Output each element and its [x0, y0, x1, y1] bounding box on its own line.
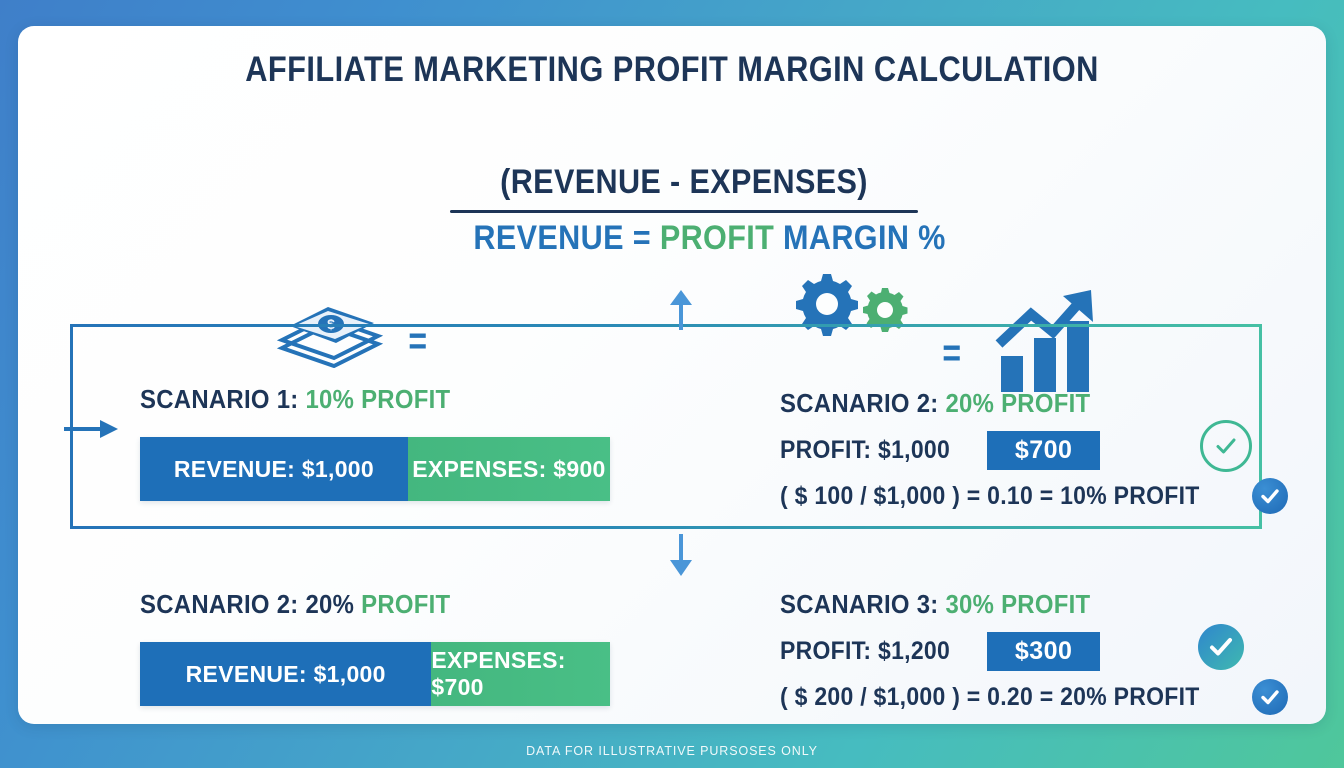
page-title: AFFILIATE MARKETING PROFIT MARGIN CALCUL… [96, 50, 1247, 90]
denominator-profit: PROFIT [660, 219, 774, 257]
calculation-text: ( $ 200 / $1,000 ) = 0.20 = 20% PROFIT [780, 683, 1200, 712]
scenario-heading: SCANARIO 3: 30% PROFIT [780, 589, 1247, 620]
fraction-bar [450, 210, 918, 213]
content-card: AFFILIATE MARKETING PROFIT MARGIN CALCUL… [18, 26, 1326, 724]
bar-segment-expenses: EXPENSES: $700 [431, 642, 610, 706]
scenario-heading-prefix: SCANARIO 3: [780, 589, 945, 619]
check-circle-outline-icon [1200, 420, 1252, 472]
calculation-line: ( $ 100 / $1,000 ) = 0.10 = 10% PROFIT [780, 478, 1288, 514]
bar-segment-revenue: REVENUE: $1,000 [140, 642, 431, 706]
denominator-margin: MARGIN % [774, 219, 946, 257]
scenario-block-left-1: SCANARIO 1: 10% PROFIT REVENUE: $1,000 E… [140, 384, 610, 501]
scenario-heading-percent: 20% [305, 589, 361, 619]
arrow-down-icon [666, 534, 696, 581]
profit-label: PROFIT: $1,000 [780, 436, 950, 465]
arrow-up-icon [666, 290, 696, 335]
scenario-heading: SCANARIO 2: 20% PROFIT [780, 388, 1247, 419]
scenario-heading-highlight: PROFIT [361, 589, 450, 619]
scenario-heading-prefix: SCANARIO 2: [780, 388, 945, 418]
infographic-poster: AFFILIATE MARKETING PROFIT MARGIN CALCUL… [0, 0, 1344, 768]
scenario-heading: SCANARIO 2: 20% PROFIT [140, 589, 572, 620]
profit-chip[interactable]: $300 [987, 632, 1101, 671]
scenario-bar: REVENUE: $1,000 EXPENSES: $700 [140, 642, 610, 706]
profit-chip[interactable]: $700 [987, 431, 1101, 470]
scenario-heading-highlight: 30% PROFIT [945, 589, 1090, 619]
bar-segment-revenue: REVENUE: $1,000 [140, 437, 408, 501]
formula-fraction: (REVENUE - EXPENSES) REVENUE = PROFIT MA… [450, 163, 918, 258]
profit-label: PROFIT: $1,200 [780, 637, 950, 666]
check-circle-filled-icon [1198, 624, 1244, 670]
footer-disclaimer: DATA FOR ILLUSTRATIVE PURSOSES ONLY [0, 744, 1344, 758]
scenario-heading-prefix: SCANARIO 1: [140, 384, 305, 414]
check-circle-icon [1252, 478, 1288, 514]
scenario-block-left-2: SCANARIO 2: 20% PROFIT REVENUE: $1,000 E… [140, 589, 610, 706]
formula-row: $ = (REVENUE - EXPENSES) REVENUE = PROFI… [18, 146, 1326, 296]
scenario-heading-highlight: 10% PROFIT [305, 384, 450, 414]
scenario-heading-prefix: SCANARIO 2: [140, 589, 305, 619]
arrow-into-box-icon [64, 418, 120, 445]
calculation-text: ( $ 100 / $1,000 ) = 0.10 = 10% PROFIT [780, 482, 1200, 511]
formula-numerator: (REVENUE - EXPENSES) [473, 163, 894, 202]
check-circle-icon [1252, 679, 1288, 715]
scenario-bar: REVENUE: $1,000 EXPENSES: $900 [140, 437, 610, 501]
denominator-revenue: REVENUE = [473, 219, 659, 257]
scenario-heading: SCANARIO 1: 10% PROFIT [140, 384, 572, 415]
calculation-line: ( $ 200 / $1,000 ) = 0.20 = 20% PROFIT [780, 679, 1288, 715]
scenario-heading-highlight: 20% PROFIT [945, 388, 1090, 418]
bar-segment-expenses: EXPENSES: $900 [408, 437, 610, 501]
formula-denominator: REVENUE = PROFIT MARGIN % [473, 219, 894, 258]
